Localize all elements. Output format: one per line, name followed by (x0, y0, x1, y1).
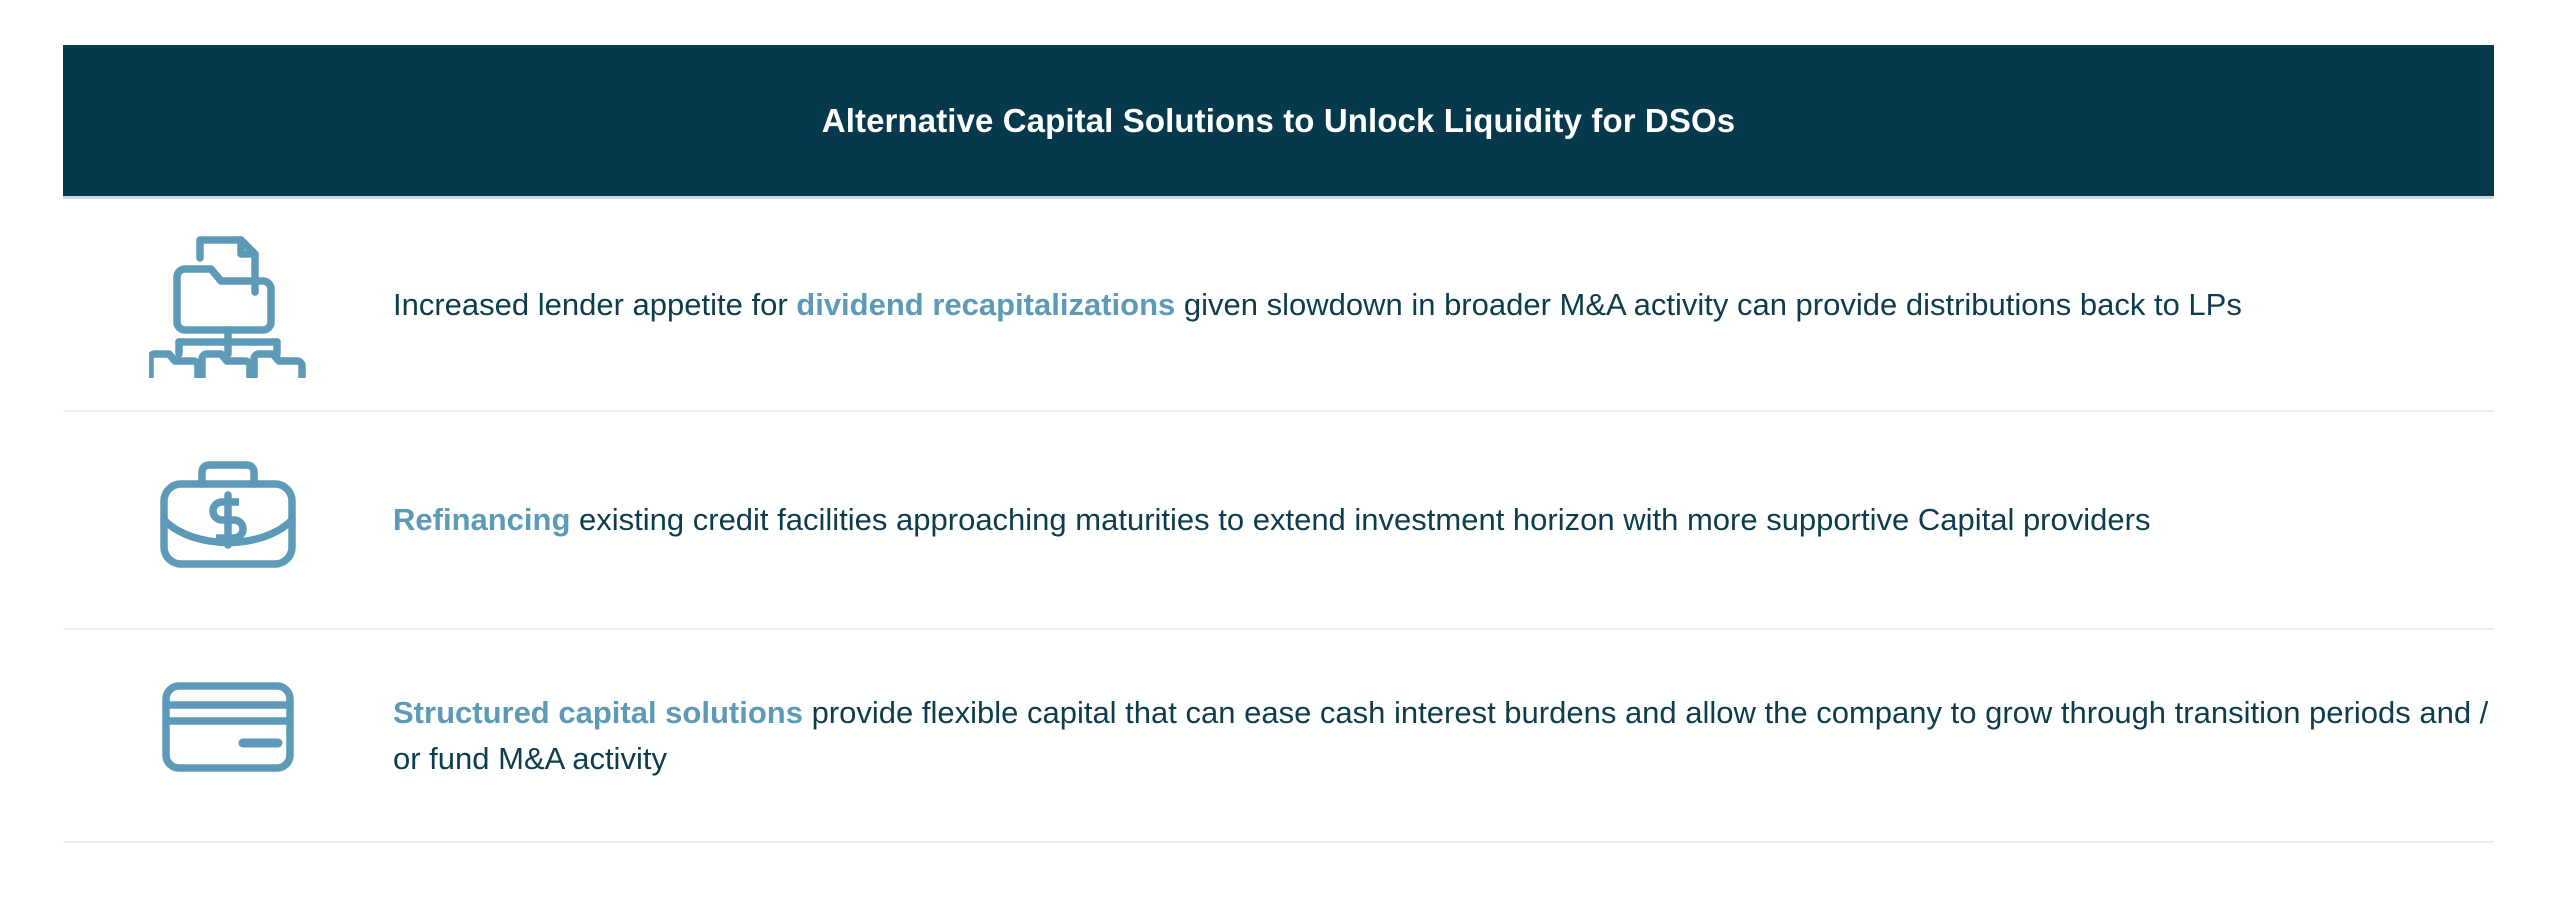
row-text-cell: Increased lender appetite for dividend r… (393, 199, 2494, 410)
row-highlight-term: dividend recapitalizations (796, 287, 1175, 322)
row-highlight-term: Refinancing (393, 502, 570, 537)
credit-card-icon (161, 681, 295, 773)
slide-canvas: Alternative Capital Solutions to Unlock … (0, 0, 2558, 899)
list-item: Structured capital solutions provide fle… (63, 630, 2494, 843)
list-item: Refinancing existing credit facilities a… (63, 412, 2494, 630)
row-icon-cell (63, 199, 393, 410)
row-text-after: given slowdown in broader M&A activity c… (1175, 287, 2242, 322)
row-body-text: Increased lender appetite for dividend r… (393, 282, 2242, 328)
row-text-before: Increased lender appetite for (393, 287, 796, 322)
list-item: Increased lender appetite for dividend r… (63, 199, 2494, 412)
briefcase-dollar-icon (154, 454, 302, 576)
content-rows: Increased lender appetite for dividend r… (63, 199, 2494, 843)
row-highlight-term: Structured capital solutions (393, 695, 803, 730)
row-text-cell: Structured capital solutions provide fle… (393, 630, 2494, 841)
row-text-after: existing credit facilities approaching m… (570, 502, 2150, 537)
header-banner: Alternative Capital Solutions to Unlock … (63, 45, 2494, 199)
row-icon-cell (63, 630, 393, 841)
page-title: Alternative Capital Solutions to Unlock … (822, 101, 1735, 141)
row-body-text: Refinancing existing credit facilities a… (393, 497, 2150, 543)
row-icon-cell (63, 412, 393, 628)
row-body-text: Structured capital solutions provide fle… (393, 690, 2494, 781)
row-text-cell: Refinancing existing credit facilities a… (393, 412, 2494, 628)
folder-hierarchy-icon (149, 228, 307, 378)
